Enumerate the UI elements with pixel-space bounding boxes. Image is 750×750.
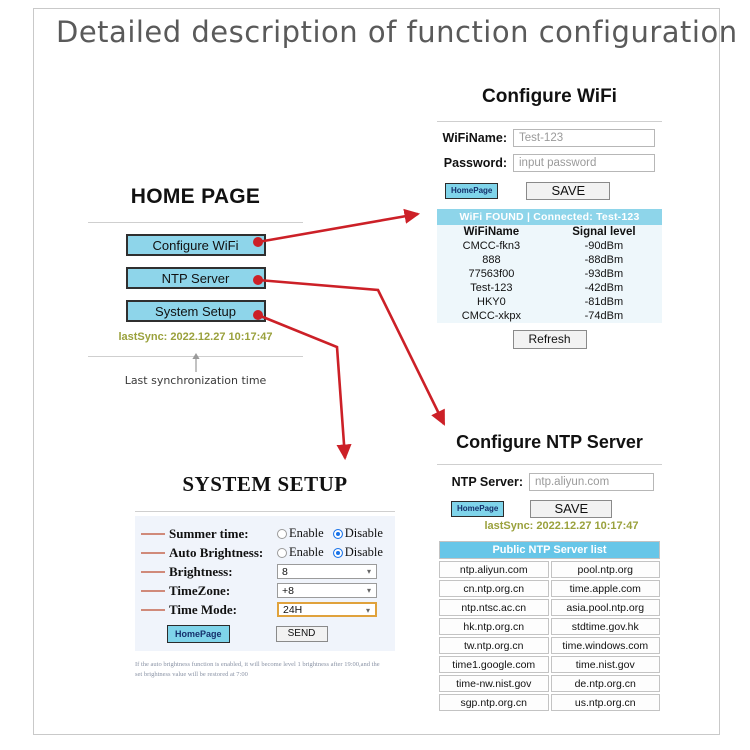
- configure-wifi-panel: Configure WiFi WiFiName: Test-123 Passwo…: [437, 86, 662, 349]
- brightness-select[interactable]: 8 ▾: [277, 564, 377, 579]
- brightness-label: Brightness:: [169, 564, 277, 580]
- wifi-cell-signal: -88dBm: [546, 253, 662, 267]
- ntp-server-row: NTP Server: ntp.aliyun.com: [437, 473, 662, 491]
- wifi-cell-name: 77563f00: [437, 267, 546, 281]
- time-mode-select-value: 24H: [283, 604, 302, 616]
- ntp-cell[interactable]: cn.ntp.org.cn: [439, 580, 549, 597]
- ntp-cell[interactable]: stdtime.gov.hk: [551, 618, 661, 635]
- row-time-mode: Time Mode: 24H ▾: [135, 600, 395, 619]
- brightness-control: 8 ▾: [277, 564, 395, 579]
- wifi-cell-name: Test-123: [437, 281, 546, 295]
- row-brightness: Brightness: 8 ▾: [135, 562, 395, 581]
- ntp-cell[interactable]: time.windows.com: [551, 637, 661, 654]
- wifi-cell-signal: -81dBm: [546, 295, 662, 309]
- table-row[interactable]: 77563f00 -93dBm: [437, 267, 662, 281]
- chevron-down-icon: ▾: [367, 567, 371, 576]
- wifi-name-input[interactable]: Test-123: [513, 129, 655, 147]
- dash-icon: [135, 571, 169, 573]
- ntp-cell[interactable]: asia.pool.ntp.org: [551, 599, 661, 616]
- summer-time-control: Enable Disable: [277, 526, 395, 541]
- wifi-name-row: WiFiName: Test-123: [437, 129, 662, 147]
- row-auto-brightness: Auto Brightness: Enable Disable: [135, 543, 395, 562]
- auto-brightness-label: Auto Brightness:: [169, 545, 277, 561]
- wifi-banner-cell: WiFi FOUND | Connected: Test-123: [437, 209, 662, 225]
- homepage-panel: HOME PAGE Configure WiFi NTP Server Syst…: [88, 185, 303, 385]
- wifi-cell-name: HKY0: [437, 295, 546, 309]
- homepage-caption: Last synchronization time: [88, 374, 303, 387]
- system-setup-form: Summer time: Enable Disable Auto Brightn…: [135, 516, 395, 651]
- ntp-server-label: NTP Server:: [437, 475, 529, 489]
- summer-time-enable-radio[interactable]: [277, 529, 287, 539]
- summer-time-enable-label: Enable: [289, 526, 324, 541]
- ntp-cell[interactable]: de.ntp.org.cn: [551, 675, 661, 692]
- system-setup-homepage-button[interactable]: HomePage: [167, 625, 230, 643]
- time-mode-label: Time Mode:: [169, 602, 277, 618]
- timezone-select-value: +8: [282, 585, 294, 597]
- chevron-down-icon: ▾: [367, 586, 371, 595]
- time-mode-control: 24H ▾: [277, 602, 395, 617]
- table-row[interactable]: 888 -88dBm: [437, 253, 662, 267]
- system-setup-actions: HomePage SEND: [135, 625, 395, 643]
- wifi-cell-name: 888: [437, 253, 546, 267]
- homepage-divider: [88, 222, 303, 223]
- timezone-select[interactable]: +8 ▾: [277, 583, 377, 598]
- wifi-password-row: Password: input password: [437, 154, 662, 172]
- configure-ntp-panel: Configure NTP Server NTP Server: ntp.ali…: [437, 432, 662, 713]
- ntp-cell[interactable]: us.ntp.org.cn: [551, 694, 661, 711]
- ntp-server-input[interactable]: ntp.aliyun.com: [529, 473, 654, 491]
- system-setup-send-button[interactable]: SEND: [276, 626, 328, 642]
- table-row[interactable]: cn.ntp.org.cn time.apple.com: [439, 580, 660, 597]
- timezone-label: TimeZone:: [169, 583, 277, 599]
- table-row[interactable]: time-nw.nist.gov de.ntp.org.cn: [439, 675, 660, 692]
- ntp-divider: [437, 464, 662, 465]
- ntp-cell[interactable]: pool.ntp.org: [551, 561, 661, 578]
- wifi-col-signal: Signal level: [546, 225, 662, 239]
- homepage-last-sync: lastSync: 2022.12.27 10:17:47: [88, 331, 303, 343]
- time-mode-select[interactable]: 24H ▾: [277, 602, 377, 617]
- wifi-table-header-row: WiFiName Signal level: [437, 225, 662, 239]
- homepage-button-label: NTP Server: [162, 271, 230, 286]
- ntp-cell[interactable]: time.nist.gov: [551, 656, 661, 673]
- ntp-homepage-button[interactable]: HomePage: [451, 501, 504, 517]
- homepage-button-label: Configure WiFi: [153, 238, 239, 253]
- wifi-name-label: WiFiName:: [437, 131, 513, 145]
- dash-icon: [135, 609, 169, 611]
- ntp-cell[interactable]: ntp.ntsc.ac.cn: [439, 599, 549, 616]
- auto-brightness-enable-radio[interactable]: [277, 548, 287, 558]
- auto-brightness-control: Enable Disable: [277, 545, 395, 560]
- system-setup-panel: SYSTEM SETUP Summer time: Enable Disable…: [135, 472, 395, 680]
- wifi-cell-signal: -90dBm: [546, 239, 662, 253]
- wifi-refresh-button[interactable]: Refresh: [513, 330, 587, 349]
- wifi-homepage-button[interactable]: HomePage: [445, 183, 498, 199]
- wifi-divider: [437, 121, 662, 122]
- table-row[interactable]: ntp.aliyun.com pool.ntp.org: [439, 561, 660, 578]
- ntp-table-header-row: Public NTP Server list: [439, 541, 660, 559]
- wifi-cell-name: CMCC-fkn3: [437, 239, 546, 253]
- ntp-title: Configure NTP Server: [437, 432, 662, 453]
- wifi-banner-sep: |: [527, 211, 530, 223]
- dash-icon: [135, 590, 169, 592]
- ntp-cell[interactable]: time-nw.nist.gov: [439, 675, 549, 692]
- ntp-cell[interactable]: tw.ntp.org.cn: [439, 637, 549, 654]
- homepage-button-label: System Setup: [155, 304, 236, 319]
- ntp-actions: HomePage SAVE: [437, 500, 662, 518]
- screenshot-root: Detailed description of function configu…: [0, 0, 750, 750]
- table-row[interactable]: CMCC-xkpx -74dBm: [437, 309, 662, 323]
- homepage-title: HOME PAGE: [88, 185, 303, 209]
- wifi-refresh-wrap: Refresh: [437, 330, 662, 349]
- row-summer-time: Summer time: Enable Disable: [135, 524, 395, 543]
- wifi-found-table: WiFi FOUND | Connected: Test-123 WiFiNam…: [437, 209, 662, 323]
- homepage-button-ntp-server[interactable]: NTP Server: [126, 267, 266, 289]
- wifi-cell-signal: -42dBm: [546, 281, 662, 295]
- table-row[interactable]: hk.ntp.org.cn stdtime.gov.hk: [439, 618, 660, 635]
- system-setup-divider: [135, 511, 395, 512]
- wifi-save-button[interactable]: SAVE: [526, 182, 610, 200]
- table-row[interactable]: tw.ntp.org.cn time.windows.com: [439, 637, 660, 654]
- summer-time-label: Summer time:: [169, 526, 277, 542]
- wifi-actions: HomePage SAVE: [437, 182, 662, 200]
- table-row[interactable]: Test-123 -42dBm: [437, 281, 662, 295]
- wifi-cell-signal: -74dBm: [546, 309, 662, 323]
- ntp-cell[interactable]: sgp.ntp.org.cn: [439, 694, 549, 711]
- wifi-title: Configure WiFi: [437, 86, 662, 108]
- page-title: Detailed description of function configu…: [56, 15, 716, 55]
- ntp-save-button[interactable]: SAVE: [530, 500, 612, 518]
- wifi-password-input[interactable]: input password: [513, 154, 655, 172]
- wifi-cell-signal: -93dBm: [546, 267, 662, 281]
- wifi-cell-name: CMCC-xkpx: [437, 309, 546, 323]
- wifi-banner-left: WiFi FOUND: [459, 211, 523, 223]
- summer-time-disable-radio[interactable]: [333, 529, 343, 539]
- wifi-banner-right: Connected: Test-123: [533, 211, 639, 223]
- ntp-cell[interactable]: time.apple.com: [551, 580, 661, 597]
- wifi-password-label: Password:: [437, 156, 513, 170]
- wifi-col-name: WiFiName: [437, 225, 546, 239]
- homepage-divider-bottom: [88, 356, 303, 357]
- ntp-cell[interactable]: ntp.aliyun.com: [439, 561, 549, 578]
- wifi-table-banner: WiFi FOUND | Connected: Test-123: [437, 209, 662, 225]
- auto-brightness-disable-label: Disable: [345, 545, 383, 560]
- summer-time-disable-label: Disable: [345, 526, 383, 541]
- ntp-cell[interactable]: hk.ntp.org.cn: [439, 618, 549, 635]
- auto-brightness-enable-label: Enable: [289, 545, 324, 560]
- ntp-cell[interactable]: time1.google.com: [439, 656, 549, 673]
- table-row[interactable]: ntp.ntsc.ac.cn asia.pool.ntp.org: [439, 599, 660, 616]
- public-ntp-server-table: Public NTP Server list ntp.aliyun.com po…: [437, 539, 662, 713]
- system-setup-note: If the auto brightness function is enabl…: [135, 660, 385, 680]
- table-row[interactable]: HKY0 -81dBm: [437, 295, 662, 309]
- homepage-button-configure-wifi[interactable]: Configure WiFi: [126, 234, 266, 256]
- ntp-table-header: Public NTP Server list: [439, 541, 660, 559]
- timezone-control: +8 ▾: [277, 583, 395, 598]
- table-row[interactable]: time1.google.com time.nist.gov: [439, 656, 660, 673]
- auto-brightness-disable-radio[interactable]: [333, 548, 343, 558]
- brightness-select-value: 8: [282, 566, 288, 578]
- system-setup-title: SYSTEM SETUP: [135, 472, 395, 497]
- table-row[interactable]: sgp.ntp.org.cn us.ntp.org.cn: [439, 694, 660, 711]
- table-row[interactable]: CMCC-fkn3 -90dBm: [437, 239, 662, 253]
- ntp-last-sync: lastSync: 2022.12.27 10:17:47: [437, 520, 662, 532]
- homepage-button-system-setup[interactable]: System Setup: [126, 300, 266, 322]
- chevron-down-icon: ▾: [366, 606, 370, 615]
- dash-icon: [135, 533, 169, 535]
- dash-icon: [135, 552, 169, 554]
- row-timezone: TimeZone: +8 ▾: [135, 581, 395, 600]
